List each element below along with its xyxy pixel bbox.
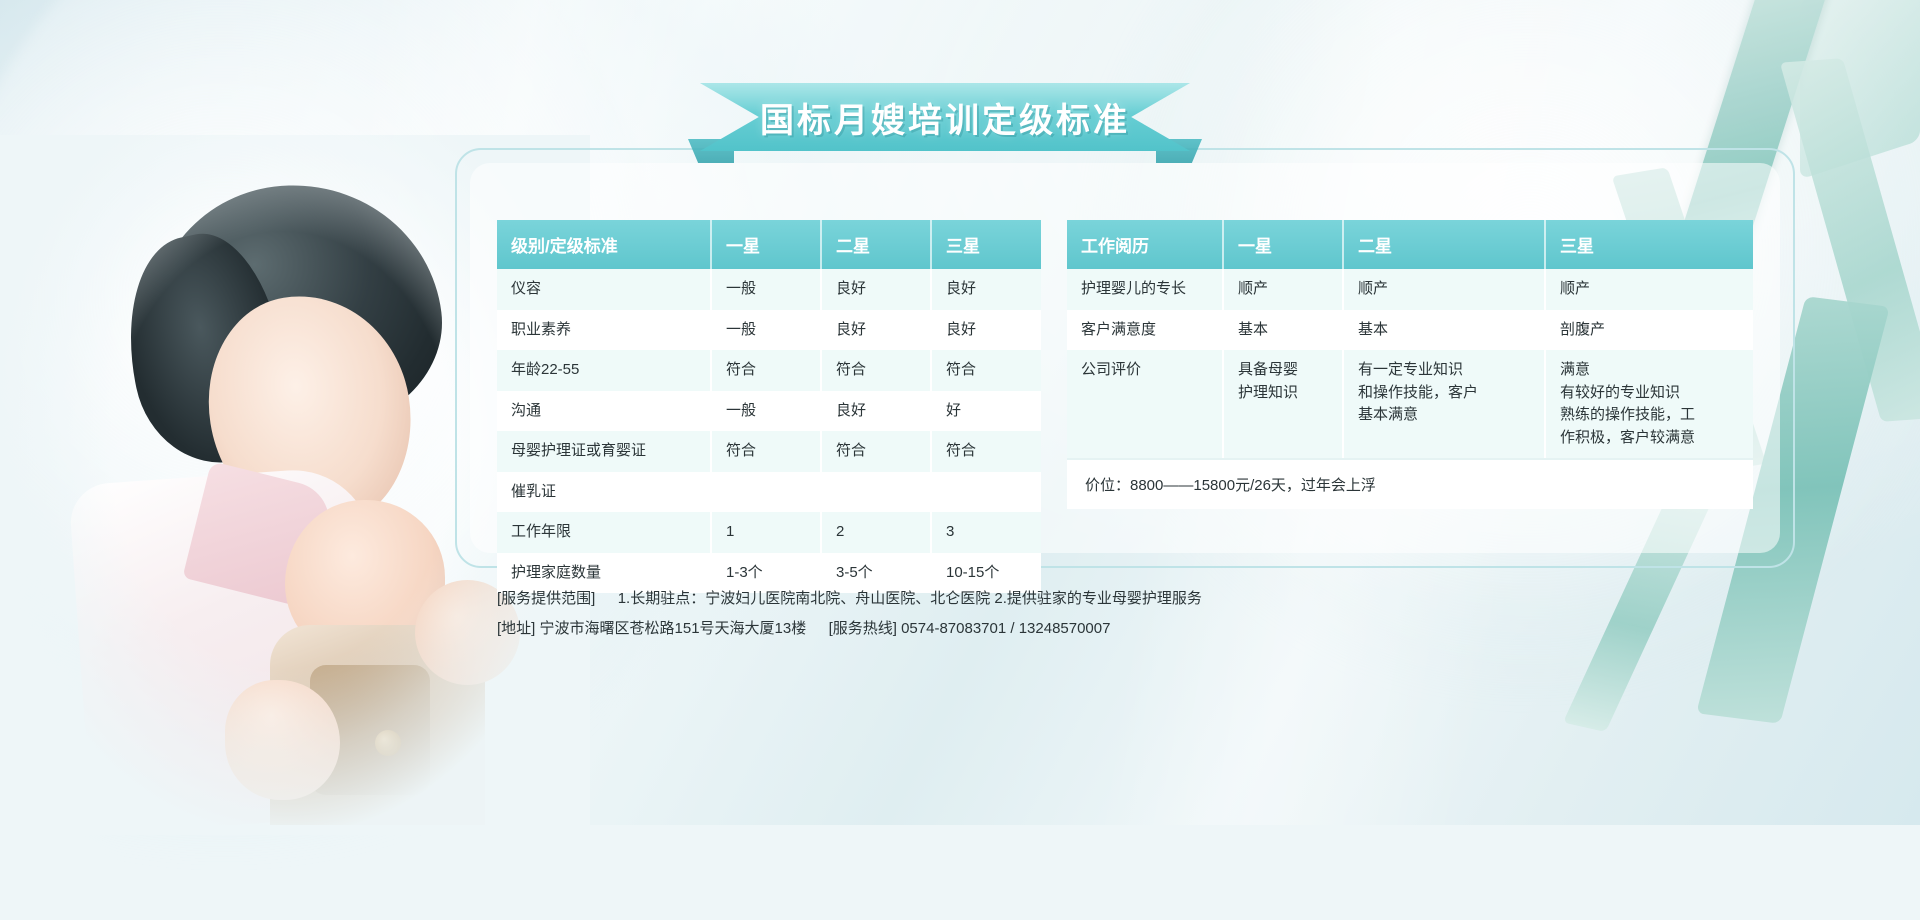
footer-text-hotline: 0574-87083701 / 13248570007 bbox=[901, 620, 1110, 637]
table-header-row: 工作阅历 一星 二星 三星 bbox=[1067, 220, 1753, 269]
page-title: 国标月嫂培训定级标准 bbox=[700, 83, 1190, 151]
cell-one-star: 符合 bbox=[711, 350, 821, 391]
cell-two-star: 良好 bbox=[821, 310, 931, 351]
col-header-one-star: 一星 bbox=[711, 220, 821, 269]
col-header-two-star: 二星 bbox=[821, 220, 931, 269]
work-experience-table: 工作阅历 一星 二星 三星 护理婴儿的专长 顺产 顺产 顺产 客户满意度 基本 … bbox=[1067, 220, 1753, 458]
cell-two-star: 良好 bbox=[821, 269, 931, 310]
table-row: 年龄22-55 符合 符合 符合 bbox=[497, 350, 1041, 391]
cell-one-star: 具备母婴 护理知识 bbox=[1223, 350, 1343, 458]
cell-two-star: 2 bbox=[821, 512, 931, 553]
cell-three-star: 顺产 bbox=[1545, 269, 1753, 310]
cell-three-star: 好 bbox=[931, 391, 1041, 432]
table-row: 催乳证 bbox=[497, 472, 1041, 513]
col-header-one-star: 一星 bbox=[1223, 220, 1343, 269]
table-row: 客户满意度 基本 基本 剖腹产 bbox=[1067, 310, 1753, 351]
cell-two-star: 符合 bbox=[821, 350, 931, 391]
table-row: 母婴护理证或育婴证 符合 符合 符合 bbox=[497, 431, 1041, 472]
cell-one-star: 1 bbox=[711, 512, 821, 553]
cell-one-star: 一般 bbox=[711, 310, 821, 351]
cell-criteria: 工作年限 bbox=[497, 512, 711, 553]
table-row: 护理婴儿的专长 顺产 顺产 顺产 bbox=[1067, 269, 1753, 310]
table-row: 仪容 一般 良好 良好 bbox=[497, 269, 1041, 310]
tables-area: 级别/定级标准 一星 二星 三星 仪容 一般 良好 良好 职业素养 一般 良好 … bbox=[497, 220, 1753, 593]
cell-experience: 公司评价 bbox=[1067, 350, 1223, 458]
col-header-experience: 工作阅历 bbox=[1067, 220, 1223, 269]
cell-one-star: 基本 bbox=[1223, 310, 1343, 351]
table-row: 沟通 一般 良好 好 bbox=[497, 391, 1041, 432]
cell-three-star: 剖腹产 bbox=[1545, 310, 1753, 351]
footer-line-address: [地址] 宁波市海曙区苍松路151号天海大厦13楼 [服务热线] 0574-87… bbox=[497, 614, 1697, 644]
cell-criteria: 职业素养 bbox=[497, 310, 711, 351]
cell-experience: 护理婴儿的专长 bbox=[1067, 269, 1223, 310]
cell-three-star: 符合 bbox=[931, 350, 1041, 391]
footer-label-address: [地址] bbox=[497, 620, 535, 637]
cell-three-star bbox=[931, 472, 1041, 513]
col-header-three-star: 三星 bbox=[1545, 220, 1753, 269]
col-header-three-star: 三星 bbox=[931, 220, 1041, 269]
cell-one-star: 一般 bbox=[711, 269, 821, 310]
cell-two-star: 良好 bbox=[821, 391, 931, 432]
work-experience-panel: 工作阅历 一星 二星 三星 护理婴儿的专长 顺产 顺产 顺产 客户满意度 基本 … bbox=[1067, 220, 1753, 593]
cell-two-star: 有一定专业知识 和操作技能，客户 基本满意 bbox=[1343, 350, 1545, 458]
table-row: 职业素养 一般 良好 良好 bbox=[497, 310, 1041, 351]
cell-two-star: 顺产 bbox=[1343, 269, 1545, 310]
col-header-criteria: 级别/定级标准 bbox=[497, 220, 711, 269]
cell-criteria: 催乳证 bbox=[497, 472, 711, 513]
cell-three-star: 3 bbox=[931, 512, 1041, 553]
grading-standard-table: 级别/定级标准 一星 二星 三星 仪容 一般 良好 良好 职业素养 一般 良好 … bbox=[497, 220, 1041, 593]
cell-criteria: 年龄22-55 bbox=[497, 350, 711, 391]
cell-criteria: 母婴护理证或育婴证 bbox=[497, 431, 711, 472]
price-note: 价位：8800——15800元/26天，过年会上浮 bbox=[1067, 458, 1753, 509]
footer-text-service-scope: 1.长期驻点：宁波妇儿医院南北院、舟山医院、北仑医院 2.提供驻家的专业母婴护理… bbox=[618, 590, 1202, 607]
cell-experience: 客户满意度 bbox=[1067, 310, 1223, 351]
cell-two-star bbox=[821, 472, 931, 513]
cell-three-star: 良好 bbox=[931, 310, 1041, 351]
footer-label-hotline: [服务热线] bbox=[829, 620, 897, 637]
cell-one-star: 一般 bbox=[711, 391, 821, 432]
cell-two-star: 基本 bbox=[1343, 310, 1545, 351]
cell-criteria: 仪容 bbox=[497, 269, 711, 310]
footer-label-service-scope: [服务提供范围] bbox=[497, 590, 595, 607]
cell-three-star: 符合 bbox=[931, 431, 1041, 472]
table-row: 工作年限 1 2 3 bbox=[497, 512, 1041, 553]
cell-one-star: 顺产 bbox=[1223, 269, 1343, 310]
title-banner: 国标月嫂培训定级标准 bbox=[700, 83, 1190, 151]
cell-one-star bbox=[711, 472, 821, 513]
footer-text-address: 宁波市海曙区苍松路151号天海大厦13楼 bbox=[540, 620, 807, 637]
footer-info: [服务提供范围] 1.长期驻点：宁波妇儿医院南北院、舟山医院、北仑医院 2.提供… bbox=[497, 584, 1697, 644]
footer-line-service-scope: [服务提供范围] 1.长期驻点：宁波妇儿医院南北院、舟山医院、北仑医院 2.提供… bbox=[497, 584, 1697, 614]
cell-three-star: 满意 有较好的专业知识 熟练的操作技能，工 作积极，客户较满意 bbox=[1545, 350, 1753, 458]
table-row: 公司评价 具备母婴 护理知识 有一定专业知识 和操作技能，客户 基本满意 满意 … bbox=[1067, 350, 1753, 458]
table-header-row: 级别/定级标准 一星 二星 三星 bbox=[497, 220, 1041, 269]
col-header-two-star: 二星 bbox=[1343, 220, 1545, 269]
cell-one-star: 符合 bbox=[711, 431, 821, 472]
cell-three-star: 良好 bbox=[931, 269, 1041, 310]
cell-two-star: 符合 bbox=[821, 431, 931, 472]
cell-criteria: 沟通 bbox=[497, 391, 711, 432]
